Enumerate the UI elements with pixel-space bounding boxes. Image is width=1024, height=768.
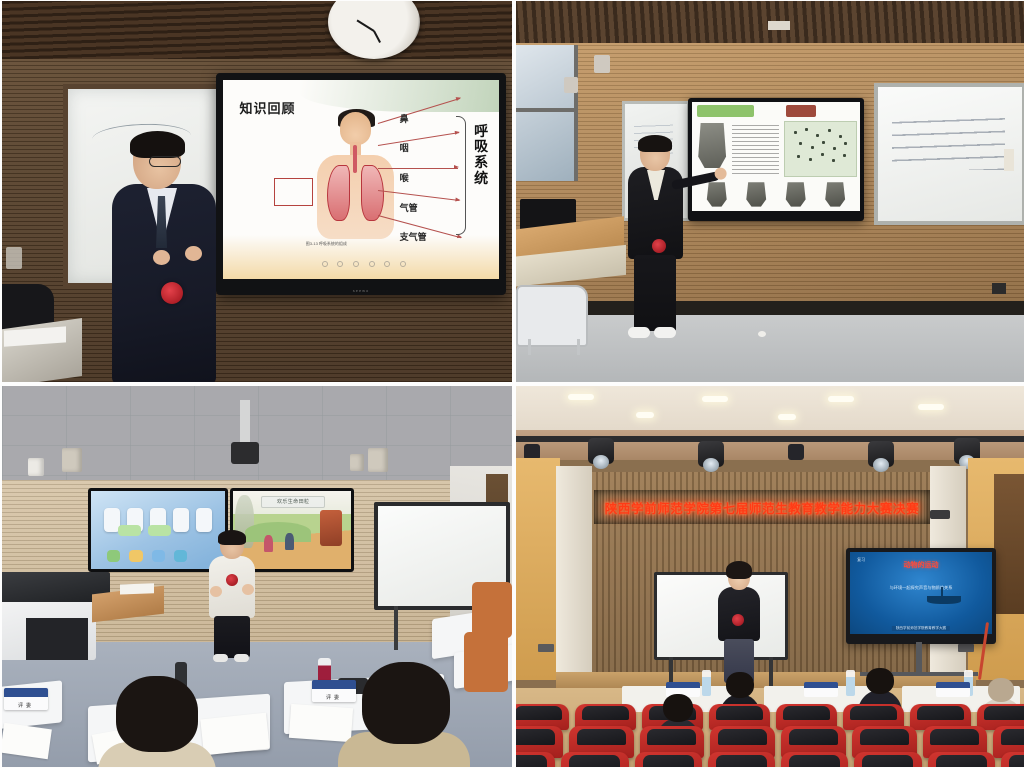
dock-icon[interactable] xyxy=(129,550,142,562)
floor-object xyxy=(758,331,766,337)
bronze-item xyxy=(823,182,847,206)
auditorium-seat[interactable] xyxy=(1001,752,1024,767)
interactive-display-launcher[interactable] xyxy=(88,488,228,572)
audience-head xyxy=(726,672,754,698)
pen-icon[interactable] xyxy=(322,261,328,267)
judge-person xyxy=(338,662,470,767)
panel-bottom-right: 陕西学前师范学院第七届师范生教育教学能力大赛决赛 复习 动物的运动 与环境一起探… xyxy=(516,386,1024,767)
bronze-item xyxy=(744,182,768,206)
slide-title: 动物的运动 xyxy=(904,560,939,570)
presenter-female-4 xyxy=(716,564,762,684)
slide-anatomy: 知识回顾 xyxy=(223,80,499,279)
competitor-badge xyxy=(226,574,238,586)
slide-title: 知识回顾 xyxy=(240,98,296,117)
slide-body-text xyxy=(732,122,779,174)
presenter-hand-right xyxy=(185,246,202,261)
lung-left-shape xyxy=(327,165,350,221)
story-character xyxy=(264,535,273,552)
shape-square-icon[interactable] xyxy=(384,261,390,267)
presenter-hand-left xyxy=(153,250,170,265)
camera-mount xyxy=(930,510,950,519)
wall-outlet xyxy=(992,283,1006,294)
classroom-chair xyxy=(516,285,588,347)
whiteboard-right xyxy=(874,83,1024,225)
downlight-icon xyxy=(636,412,654,418)
presenter-male-2 xyxy=(624,137,686,345)
launcher-screen xyxy=(91,491,225,569)
audience-head xyxy=(663,694,693,722)
more-icon[interactable] xyxy=(400,261,406,267)
detail-callout-box xyxy=(274,178,313,206)
shoe-left xyxy=(628,327,650,338)
competitor-badge xyxy=(161,282,183,304)
eraser-icon[interactable] xyxy=(337,261,343,267)
auditorium-seat[interactable] xyxy=(635,752,702,767)
auditorium-seat[interactable] xyxy=(516,752,555,767)
auditorium-seat[interactable] xyxy=(854,752,921,767)
presenter-hair xyxy=(218,530,246,545)
oracle-bone-panel xyxy=(784,121,856,178)
pillar xyxy=(556,466,592,680)
figure-head xyxy=(340,112,372,145)
panel-bottom-left: 欢乐生命田粒 xyxy=(2,386,512,767)
trachea-shape xyxy=(353,145,357,173)
downlight-icon xyxy=(918,404,944,410)
panel-top-left: 知识回顾 xyxy=(2,1,512,382)
slide-material-tag xyxy=(786,105,816,117)
dock-icon[interactable] xyxy=(152,550,165,562)
floor xyxy=(516,315,1024,382)
led-banner-text: 陕西学前师范学院第七届师范生教育教学能力大赛决赛 xyxy=(605,498,919,517)
slide-toolbar[interactable] xyxy=(317,257,411,271)
judge-nameplate xyxy=(804,682,838,697)
speaker-icon xyxy=(368,448,388,472)
app-icon[interactable] xyxy=(196,508,212,531)
shoe-right xyxy=(234,654,249,662)
audience-head xyxy=(988,678,1014,702)
projector-mount xyxy=(240,400,250,444)
dock-icon[interactable] xyxy=(174,550,187,562)
downlight-icon xyxy=(702,396,728,402)
window xyxy=(516,45,578,181)
judge-person xyxy=(98,676,216,767)
slide-footer: 陕西学前师范学院教育教学大赛 xyxy=(892,626,950,631)
downlight-icon xyxy=(778,414,796,420)
dock-bar[interactable] xyxy=(107,550,187,562)
presenter-hand-left xyxy=(210,586,222,597)
app-icon[interactable] xyxy=(118,525,141,536)
exit-sign xyxy=(538,644,554,652)
ceiling-sensor xyxy=(768,21,790,30)
story-barn xyxy=(320,510,341,546)
grouping-brace xyxy=(456,116,466,235)
judge-head xyxy=(116,676,198,752)
wall-outlet xyxy=(6,247,22,269)
shoe-right xyxy=(654,327,676,338)
presenter-female-3 xyxy=(208,532,256,664)
presenter-hair xyxy=(638,135,672,152)
glasses-icon xyxy=(149,156,181,167)
shape-circle-icon[interactable] xyxy=(369,261,375,267)
slide-section-header xyxy=(697,105,754,117)
photo-collage: 知识回顾 xyxy=(0,0,1024,768)
stage-spotlight xyxy=(588,438,614,464)
app-icon[interactable] xyxy=(173,508,189,531)
front-desk xyxy=(2,318,82,382)
classroom-chair xyxy=(464,632,508,692)
cabinet-front xyxy=(26,618,88,660)
water-bottle xyxy=(846,670,855,696)
speaker-icon xyxy=(350,454,364,471)
ceiling-slats xyxy=(2,1,512,59)
figure-caption: 图3-13 呼吸系统的组成 xyxy=(306,241,347,247)
water-bottle xyxy=(702,670,711,696)
downlight-icon xyxy=(568,394,594,400)
story-character xyxy=(285,533,294,550)
speaker-icon xyxy=(28,458,44,476)
display-brand-logo: seewo xyxy=(353,288,370,293)
story-title-box: 欢乐生命田粒 xyxy=(261,496,325,508)
bronze-item xyxy=(784,182,808,206)
interactive-display-4[interactable]: 复习 动物的运动 与环境一起探究声音与物质的关系 陕西学前师范学院教育教学大赛 xyxy=(846,548,996,644)
auditorium-seat[interactable] xyxy=(561,752,628,767)
presenter-legs xyxy=(634,255,676,331)
auditorium-seat[interactable] xyxy=(708,752,775,767)
bronze-vessel-image xyxy=(697,123,727,169)
story-title: 欢乐生命田粒 xyxy=(277,498,309,505)
downlight-icon xyxy=(828,396,854,402)
speaker-icon xyxy=(594,55,610,73)
stand-column xyxy=(916,642,922,674)
speaker-icon xyxy=(62,448,82,472)
presenter-hand-right xyxy=(242,584,254,595)
door[interactable] xyxy=(994,474,1024,614)
shoe-left xyxy=(213,654,228,662)
slide-corner-label: 复习 xyxy=(857,557,865,563)
audience-head xyxy=(866,668,894,694)
whiteboard-notes xyxy=(892,111,1004,170)
led-banner: 陕西学前师范学院第七届师范生教育教学能力大赛决赛 xyxy=(594,490,930,524)
stage-spotlight xyxy=(868,441,894,467)
bronze-item xyxy=(705,182,729,206)
slide-bronze xyxy=(692,102,860,211)
judge-nameplate xyxy=(936,682,970,697)
competitor-badge xyxy=(652,239,666,253)
slide-animal-motion: 复习 动物的运动 与环境一起探究声音与物质的关系 陕西学前师范学院教育教学大赛 xyxy=(850,552,992,634)
presenter-male-1 xyxy=(107,134,219,382)
seat-row[interactable] xyxy=(516,752,1024,767)
whiteboard-leg xyxy=(394,606,398,650)
bronze-item-row xyxy=(697,176,855,207)
stage-spotlight xyxy=(698,441,724,467)
auditorium-seat[interactable] xyxy=(781,752,848,767)
interactive-display-1[interactable]: 知识回顾 xyxy=(216,73,506,295)
classroom-chair xyxy=(472,582,512,638)
interactive-display-2[interactable] xyxy=(688,98,864,221)
app-grid-row-2[interactable] xyxy=(118,525,172,536)
auditorium-seat[interactable] xyxy=(928,752,995,767)
pointer-icon[interactable] xyxy=(353,261,359,267)
dock-icon[interactable] xyxy=(107,550,120,562)
presenter-hair xyxy=(130,131,185,158)
judge-head xyxy=(362,662,450,744)
judge-nameplate-label: 评委 xyxy=(18,702,34,709)
stage-lamp xyxy=(788,444,804,460)
competitor-badge xyxy=(732,614,744,626)
judge-nameplate: 评委 xyxy=(4,688,48,710)
app-icon[interactable] xyxy=(148,525,171,536)
presenter-hair xyxy=(726,561,752,579)
presenter-legs xyxy=(214,616,250,658)
panel-top-right xyxy=(516,1,1024,382)
slide-decor-top xyxy=(300,80,499,112)
scoring-sheet xyxy=(2,723,52,759)
slide-illustration xyxy=(927,596,961,603)
speaker-icon xyxy=(564,77,578,93)
light-switch[interactable] xyxy=(1004,149,1014,171)
respiratory-system-label: 呼吸系统 xyxy=(469,124,494,187)
